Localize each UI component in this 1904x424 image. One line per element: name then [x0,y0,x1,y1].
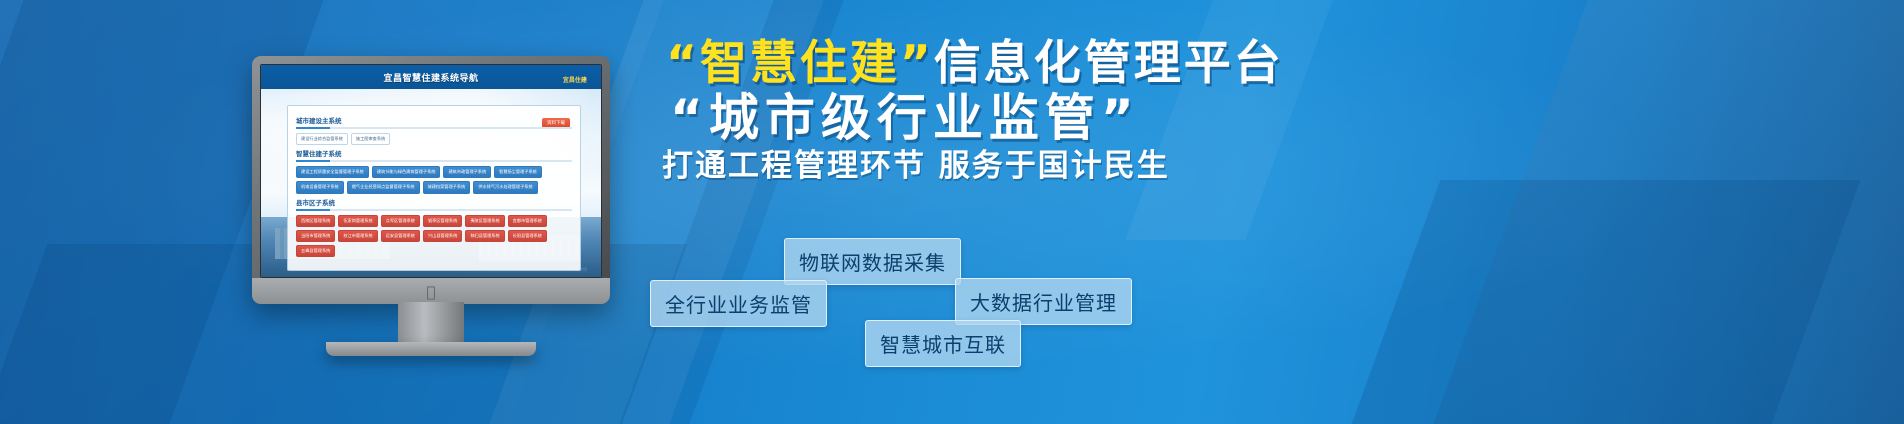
nav-chip[interactable]: 建筑市政管理子系统 [443,166,491,178]
imac-monitor-illustration: 宜昌智慧住建系统导航 宜昌住建 YICHANG JIANSHE 资料下载 城市 [252,56,610,304]
headline-block: “智慧住建”信息化管理平台 “城市级行业监管” 打通工程管理环节 服务于国计民生 [648,40,1808,182]
nav-chip[interactable]: 宜都市管理系统 [508,215,547,227]
nav-chip[interactable]: 兴山县管理系统 [423,230,462,242]
headline-line-1-highlight: “智慧住建” [666,36,934,91]
nav-chip[interactable]: 五峰县管理系统 [296,245,335,257]
dashboard-header: 宜昌智慧住建系统导航 宜昌住建 YICHANG JIANSHE [261,65,601,89]
navigation-panel: 资料下载 城市建设主系统 建设行业综合监管系统 施工图审查系统 智慧住建子系统 … [287,105,581,271]
nav-chip[interactable]: 城建档案管理子系统 [423,181,471,193]
monitor-stand-base [326,342,536,356]
nav-chip[interactable]: 枝江市管理系统 [338,230,377,242]
section-title: 城市建设主系统 [296,115,572,125]
section-title: 智慧住建子系统 [296,148,572,158]
section-title: 县市区子系统 [296,197,572,207]
section-divider [296,160,572,162]
logo-line-1: 宜昌住建 [563,77,587,84]
feature-tag-bigdata-management[interactable]: 大数据行业管理 [955,278,1132,325]
section-divider [296,209,572,211]
monitor-screen: 宜昌智慧住建系统导航 宜昌住建 YICHANG JIANSHE 资料下载 城市 [260,64,602,278]
nav-chip[interactable]: 夷陵区管理系统 [465,215,504,227]
nav-chip[interactable]: 燃气企业经营网点监督管理子系统 [347,181,420,193]
section-chip-group: 西陵区管理系统 伍家岗管理系统 点军区管理系统 猇亭区管理系统 夷陵区管理系统 … [296,215,572,258]
headline-line-1-rest: 信息化管理平台 [934,36,1284,91]
nav-chip[interactable]: 当阳市管理系统 [296,230,335,242]
nav-chip[interactable]: 建设行业综合监管系统 [296,133,348,145]
monitor-stand-neck [398,302,464,344]
section-chip-group: 建设工程质量安全监督管理子系统 建筑节能与绿色建筑管理子系统 建筑市政管理子系统… [296,166,572,193]
monitor-bezel: 宜昌智慧住建系统导航 宜昌住建 YICHANG JIANSHE 资料下载 城市 [252,56,610,304]
headline-line-2: “城市级行业监管” [670,93,1808,143]
nav-chip[interactable]: 施工图审查系统 [351,133,390,145]
apple-logo-icon:  [426,285,435,300]
nav-chip[interactable]: 建筑节能与绿色建筑管理子系统 [372,166,441,178]
feature-tag-smart-city[interactable]: 智慧城市互联 [865,320,1021,367]
monitor-chin:  [252,278,610,304]
feature-tag-industry-supervision[interactable]: 全行业业务监管 [650,280,827,327]
nav-chip[interactable]: 猇亭区管理系统 [423,215,462,227]
nav-chip[interactable]: 西陵区管理系统 [296,215,335,227]
nav-chip[interactable]: 长阳县管理系统 [508,230,547,242]
nav-chip[interactable]: 供水排气污水处理管理子系统 [473,181,537,193]
nav-chip[interactable]: 远安县管理系统 [381,230,420,242]
section-divider [296,127,572,129]
promo-banner: 宜昌智慧住建系统导航 宜昌住建 YICHANG JIANSHE 资料下载 城市 [0,0,1904,424]
nav-chip[interactable]: 建设工程质量安全监督管理子系统 [296,166,369,178]
nav-chip[interactable]: 伍家岗管理系统 [338,215,377,227]
nav-chip[interactable]: 机电设备管理子系统 [296,181,344,193]
feature-tag-iot-data[interactable]: 物联网数据采集 [784,238,961,285]
section-chip-group: 建设行业综合监管系统 施工图审查系统 [296,133,572,145]
nav-chip[interactable]: 点军区管理系统 [381,215,420,227]
nav-chip[interactable]: 智慧扬尘管理子系统 [494,166,542,178]
headline-line-3: 打通工程管理环节 服务于国计民生 [662,151,1808,182]
dashboard-title: 宜昌智慧住建系统导航 [383,71,478,84]
headline-line-1: “智慧住建”信息化管理平台 [666,40,1808,87]
dashboard-body: 资料下载 城市建设主系统 建设行业综合监管系统 施工图审查系统 智慧住建子系统 … [261,89,601,277]
nav-chip[interactable]: 秭归县管理系统 [465,230,504,242]
